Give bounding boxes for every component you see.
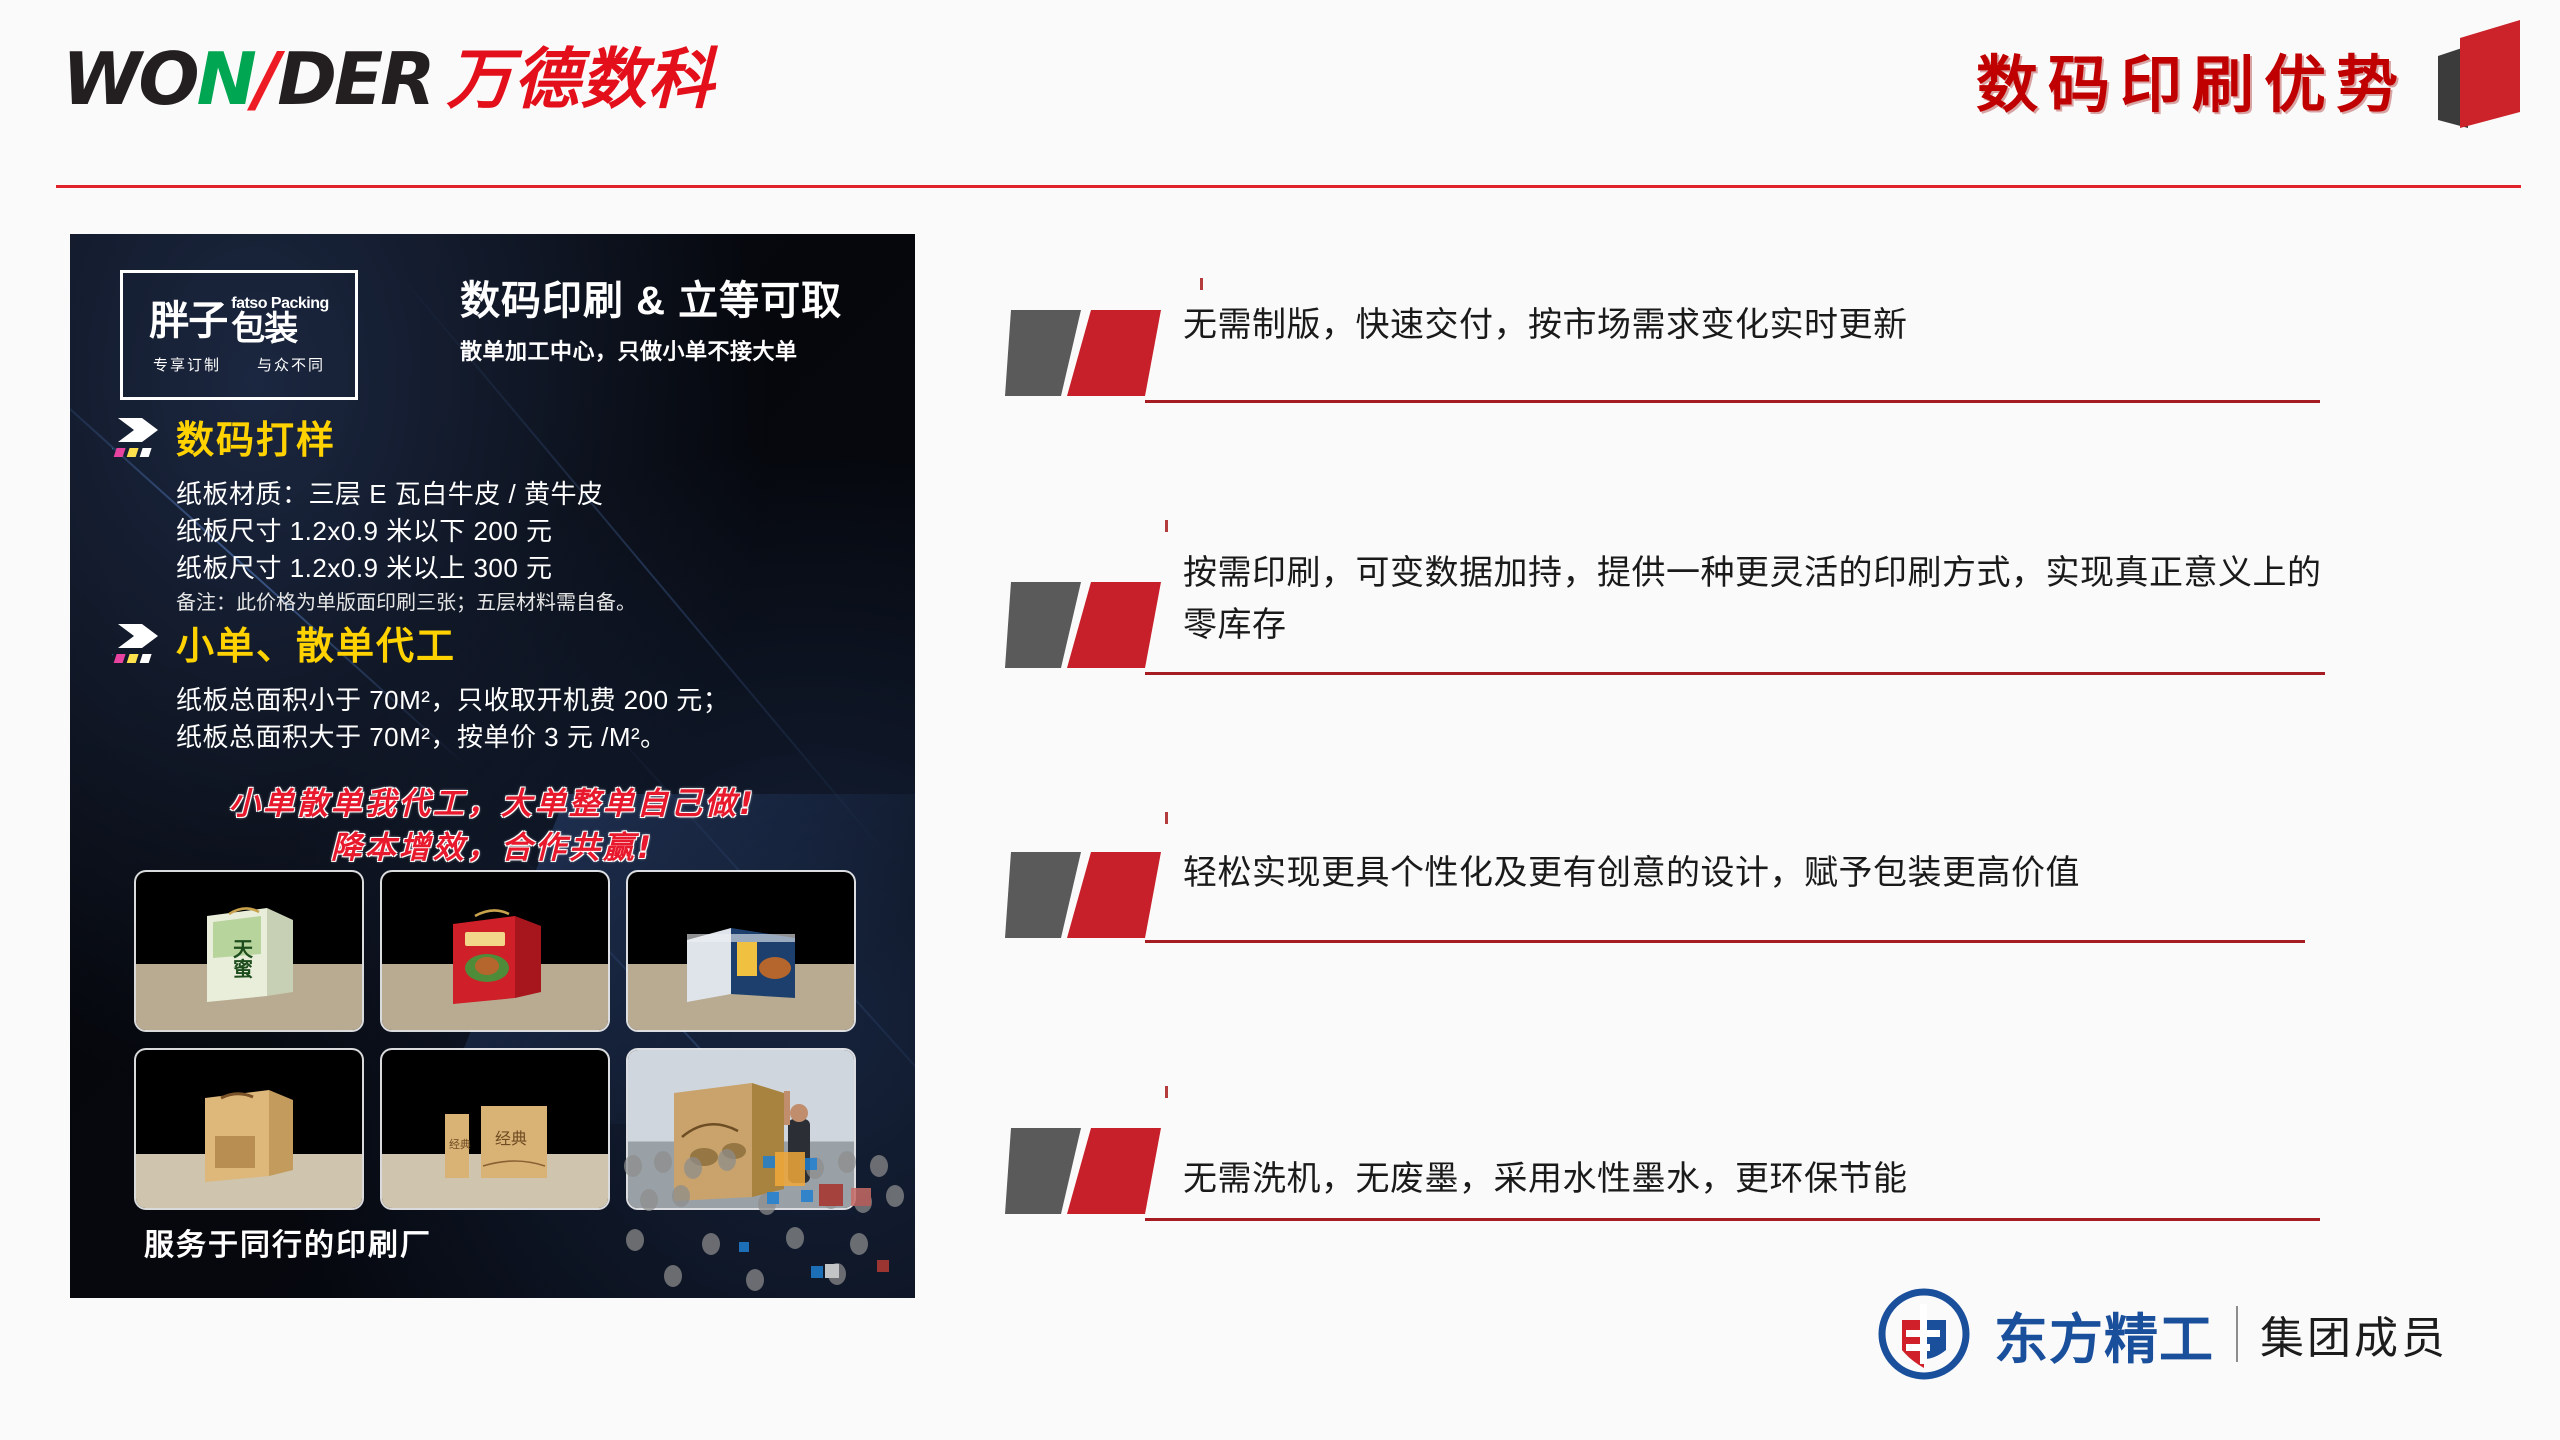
advantage-text: 无需制版，快速交付，按市场需求变化实时更新 (1183, 300, 2353, 352)
chevron-marker-icon (1005, 1118, 1195, 1224)
wonder-wordmark: WON/DER (62, 43, 433, 115)
advantage-underline (1145, 1218, 2320, 1221)
fatso-tag-right: 与众不同 (257, 354, 325, 375)
promo-poster-image: 胖子 fatso Packing 包装 专享订制 与众不同 数码印刷 & 立等可… (70, 234, 915, 1298)
wonder-part-n-red: / (254, 43, 277, 115)
poster-section-note: 备注：此价格为单版面印刷三张；五层材料需自备。 (176, 589, 636, 618)
poster-photo (136, 1050, 362, 1208)
footer-divider (2236, 1306, 2238, 1362)
poster-section-line: 纸板尺寸 1.2x0.9 米以上 300 元 (176, 550, 636, 587)
tick-mark (1200, 278, 1203, 290)
advantage-underline (1145, 940, 2305, 943)
wonder-part-2: DER (277, 43, 432, 115)
poster-section-1: 数码打样 纸板材质：三层 E 瓦白牛皮 / 黄牛皮 纸板尺寸 1.2x0.9 米… (176, 422, 636, 618)
advantage-underline (1145, 400, 2320, 403)
wonder-part-1: WO (62, 43, 197, 115)
poster-section-title: 数码打样 (176, 422, 636, 460)
poster-section-line: 纸板总面积小于 70M²，只收取开机费 200 元； (176, 682, 729, 719)
tick-mark (1165, 520, 1168, 532)
slide-root: WON/DER 万德数科 数码印刷优势 胖子 fatso Packing 包装 … (0, 0, 2560, 1440)
fatso-logo-cn-left: 胖子 (149, 302, 227, 340)
tick-mark (1165, 1086, 1168, 1098)
poster-section-2: 小单、散单代工 纸板总面积小于 70M²，只收取开机费 200 元； 纸板总面积… (176, 628, 729, 756)
chevron-marker-icon (1005, 572, 1195, 678)
poster-photo: 经典 经典 (382, 1050, 608, 1208)
header-divider (56, 185, 2521, 188)
svg-text:蜜: 蜜 (233, 957, 253, 981)
poster-slogan-line-1: 小单散单我代工，大单整单自己做! (70, 782, 915, 827)
poster-section-line: 纸板尺寸 1.2x0.9 米以下 200 元 (176, 513, 636, 550)
fatso-logo-cn-right: 包装 (231, 312, 297, 346)
arrow-marker-icon (112, 622, 170, 668)
fatso-logo-box: 胖子 fatso Packing 包装 专享订制 与众不同 (120, 270, 358, 400)
poster-slogan-line-2: 降本增效，合作共赢! (70, 826, 915, 871)
poster-photo (382, 872, 608, 1030)
chevron-marker-icon (1005, 300, 1195, 406)
advantage-text: 按需印刷，可变数据加持，提供一种更灵活的印刷方式，实现真正意义上的零库存 (1183, 548, 2353, 651)
svg-text:经典: 经典 (449, 1137, 471, 1151)
poster-section-title: 小单、散单代工 (176, 628, 729, 666)
advantage-text: 轻松实现更具个性化及更有创意的设计，赋予包装更高价值 (1183, 848, 2353, 900)
poster-photo: 天 蜜 (136, 872, 362, 1030)
dongfang-logo-icon (1876, 1286, 1972, 1382)
group-member-label: 集团成员 (2260, 1302, 2448, 1366)
poster-subheadline: 散单加工中心，只做小单不接大单 (460, 334, 842, 366)
poster-section-line: 纸板总面积大于 70M²，按单价 3 元 /M²。 (176, 719, 729, 756)
poster-headline-block: 数码印刷 & 立等可取 散单加工中心，只做小单不接大单 (460, 278, 842, 366)
brand-chinese-name: 万德数科 (447, 46, 715, 112)
group-footer: 东方精工 集团成员 (1876, 1286, 2448, 1382)
fatso-tag-left: 专享订制 (153, 354, 221, 375)
poster-footer-text: 服务于同行的印刷厂 (144, 1220, 432, 1264)
advantage-underline (1145, 672, 2325, 675)
advantage-text: 无需洗机，无废墨，采用水性墨水，更环保节能 (1183, 1154, 2353, 1206)
svg-text:经典: 经典 (495, 1129, 527, 1148)
poster-headline: 数码印刷 & 立等可取 (460, 278, 842, 324)
page-title: 数码印刷优势 (1976, 50, 2408, 121)
group-company-name: 东方精工 (1994, 1295, 2214, 1374)
tick-mark (1165, 812, 1168, 824)
chevron-marker-icon (1005, 842, 1195, 948)
poster-photo (628, 872, 854, 1030)
brand-logo: WON/DER 万德数科 (62, 40, 715, 118)
poster-section-line: 纸板材质：三层 E 瓦白牛皮 / 黄牛皮 (176, 476, 636, 513)
wonder-part-n-green: N (197, 43, 254, 115)
arrow-marker-icon (112, 416, 170, 462)
corner-decoration-icon (2424, 8, 2534, 134)
poster-dot-pattern (615, 1148, 915, 1298)
